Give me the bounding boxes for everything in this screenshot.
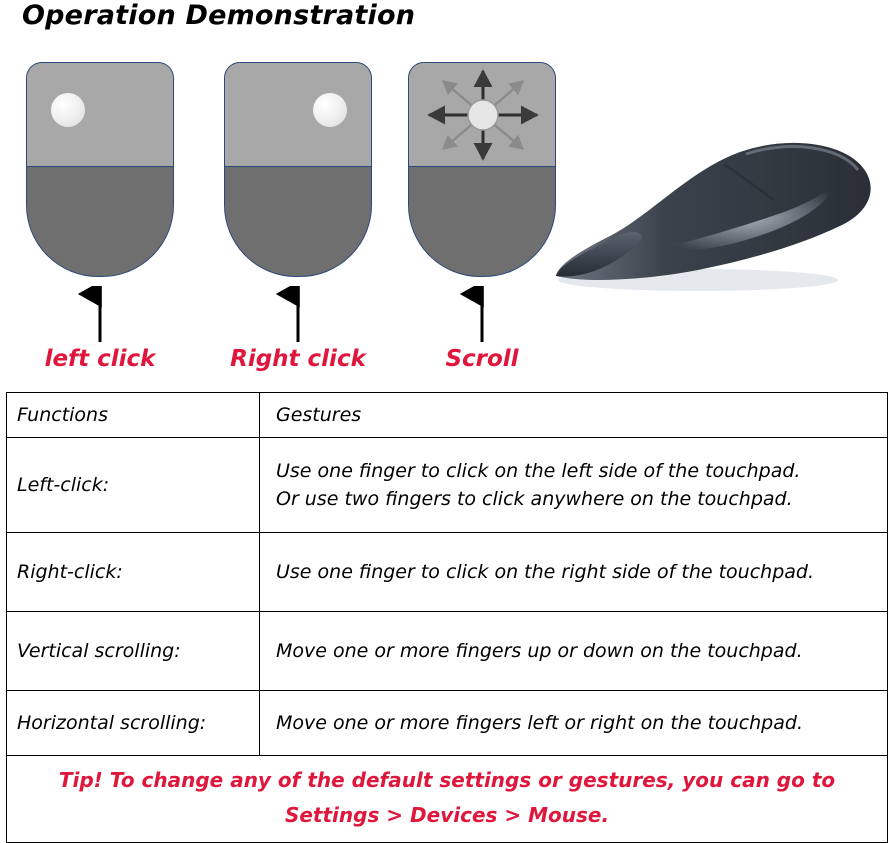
gesture-line: Use one finger to click on the left side… xyxy=(276,460,879,482)
row-gesture-right-click: Use one finger to click on the right sid… xyxy=(260,533,888,612)
row-gesture-left-click: Use one finger to click on the left side… xyxy=(260,438,888,533)
illustration-area: left click Right click Scroll xyxy=(0,48,894,388)
scroll-callout-label: Scroll xyxy=(372,346,592,372)
row-function-left-click: Left-click: xyxy=(7,438,260,533)
left-click-point-icon xyxy=(51,93,85,127)
gesture-line: Move one or more fingers up or down on t… xyxy=(276,640,879,662)
touchpad-area xyxy=(225,63,371,167)
row-function-horizontal-scrolling: Horizontal scrolling: xyxy=(7,691,260,756)
row-function-vertical-scrolling: Vertical scrolling: xyxy=(7,612,260,691)
table-row: Horizontal scrolling: Move one or more f… xyxy=(7,691,887,756)
mouse-outline xyxy=(26,62,174,277)
table-header-functions: Functions xyxy=(7,393,260,438)
tip-line: Settings > Devices > Mouse. xyxy=(13,801,881,830)
left-click-figure xyxy=(26,62,174,277)
product-photo-arc-mouse xyxy=(548,108,878,298)
table-header-gestures: Gestures xyxy=(260,393,888,438)
tip-line: Tip! To change any of the default settin… xyxy=(13,766,881,795)
callout-arrow-icon xyxy=(0,286,210,344)
scroll-directions-arrows-icon xyxy=(409,63,556,167)
table-header-row: Functions Gestures xyxy=(7,393,887,438)
gesture-line: Use one finger to click on the right sid… xyxy=(276,561,879,583)
mouse-outline xyxy=(408,62,556,277)
gestures-table: Functions Gestures Left-click: Use one f… xyxy=(6,392,888,843)
gesture-line: Move one or more fingers left or right o… xyxy=(276,712,879,734)
page-title: Operation Demonstration xyxy=(22,0,415,31)
tip-row: Tip! To change any of the default settin… xyxy=(7,756,887,843)
row-gesture-horizontal-scrolling: Move one or more fingers left or right o… xyxy=(260,691,888,756)
touchpad-area xyxy=(27,63,173,167)
left-click-callout: left click xyxy=(0,286,210,372)
table-row: Right-click: Use one finger to click on … xyxy=(7,533,887,612)
gesture-line: Or use two fingers to click anywhere on … xyxy=(276,488,879,510)
tip-text: Tip! To change any of the default settin… xyxy=(7,756,887,843)
scroll-figure xyxy=(408,62,556,277)
scroll-callout: Scroll xyxy=(372,286,592,372)
left-click-callout-label: left click xyxy=(0,346,210,372)
row-function-right-click: Right-click: xyxy=(7,533,260,612)
mouse-outline xyxy=(224,62,372,277)
table-row: Vertical scrolling: Move one or more fin… xyxy=(7,612,887,691)
right-click-point-icon xyxy=(313,93,347,127)
table-row: Left-click: Use one finger to click on t… xyxy=(7,438,887,533)
row-gesture-vertical-scrolling: Move one or more fingers up or down on t… xyxy=(260,612,888,691)
right-click-figure xyxy=(224,62,372,277)
